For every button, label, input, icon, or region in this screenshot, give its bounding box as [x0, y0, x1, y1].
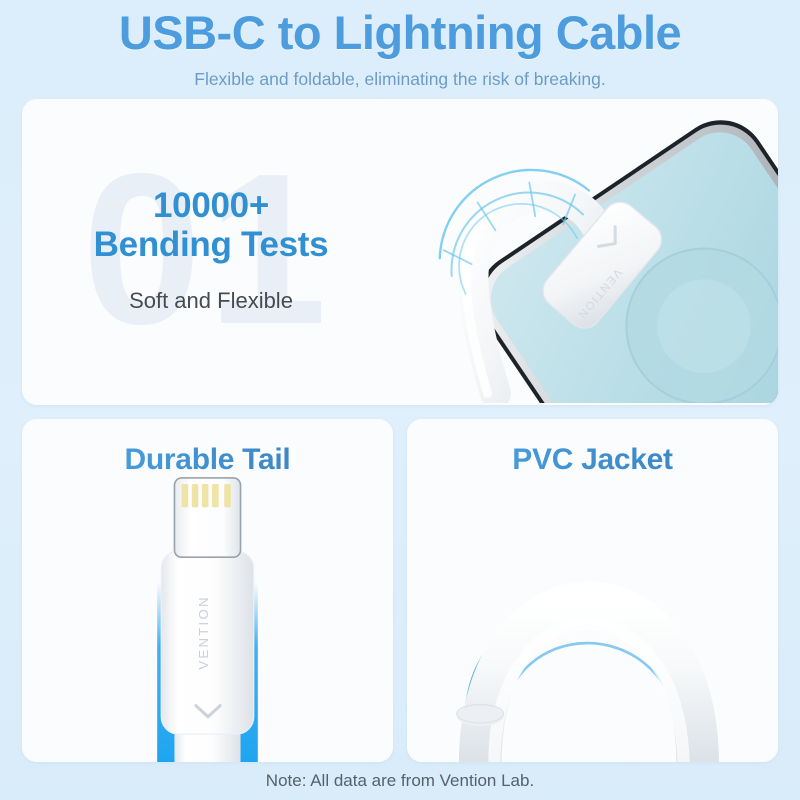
card-01-photo: VENTION [400, 99, 778, 405]
feature-card-durable-tail: 02 Durable Tail [22, 419, 393, 762]
pvc-jacket-heading: PVC Jacket [407, 443, 778, 477]
cable-collar [457, 705, 504, 726]
feature-card-bending-tests: 01 10000+ Bending Tests Soft and Flexibl… [22, 99, 778, 405]
bending-tests-stat: 10000+ Bending Tests [94, 186, 329, 264]
header: USB-C to Lightning Cable Flexible and fo… [0, 0, 800, 91]
connector-brand-label: VENTION [196, 595, 211, 669]
stat-label: Bending Tests [94, 225, 329, 264]
card-01-text-block: 10000+ Bending Tests Soft and Flexible [22, 99, 400, 405]
usbc-bending-into-phone-illustration: VENTION [400, 99, 778, 403]
page-title: USB-C to Lightning Cable [0, 4, 800, 62]
product-infographic: USB-C to Lightning Cable Flexible and fo… [0, 0, 800, 800]
footer: Note: All data are from Vention Lab. [0, 762, 800, 800]
feature-card-row-2: 02 Durable Tail [22, 419, 778, 762]
feature-card-pvc-jacket: 03 PVC Jacket [407, 419, 778, 762]
bending-tests-caption: Soft and Flexible [129, 288, 293, 314]
feature-card-grid: 01 10000+ Bending Tests Soft and Flexibl… [0, 91, 800, 762]
footer-note: Note: All data are from Vention Lab. [266, 771, 534, 791]
stat-value: 10000+ [153, 186, 269, 225]
durable-tail-heading: Durable Tail [22, 443, 393, 477]
page-subtitle: Flexible and foldable, eliminating the r… [0, 67, 800, 91]
